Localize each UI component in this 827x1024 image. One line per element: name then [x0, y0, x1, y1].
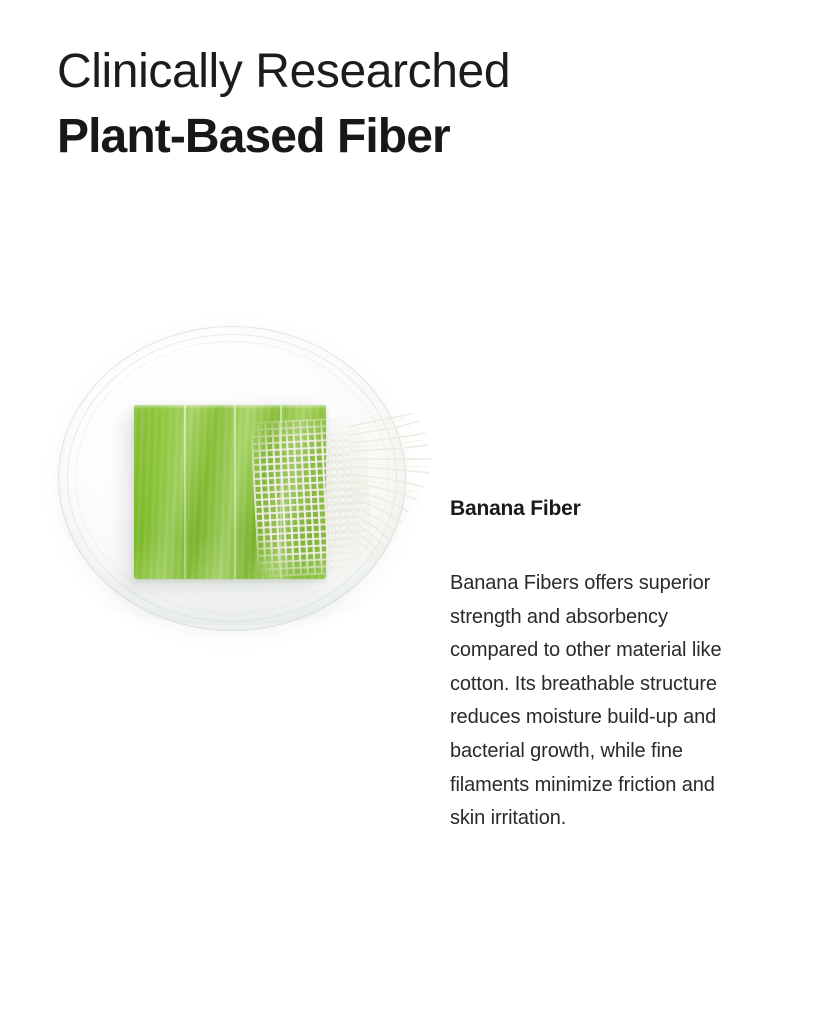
headline-eyebrow: Clinically Researched	[57, 44, 757, 101]
banana-fiber-mesh-swatch	[250, 416, 374, 578]
ingredient-description: Banana Fibers offers superior strength a…	[450, 567, 740, 836]
page-title: Plant-Based Fiber	[57, 109, 757, 166]
ingredient-copy-block: Banana Fiber Banana Fibers offers superi…	[450, 497, 740, 836]
product-ingredient-panel: Clinically Researched Plant-Based Fiber	[0, 0, 827, 1024]
petri-dish-figure	[58, 326, 408, 636]
leaf-vein	[234, 405, 236, 579]
leaf-edge-highlight	[134, 405, 326, 409]
mesh-fringe-threads	[346, 406, 446, 561]
headline-block: Clinically Researched Plant-Based Fiber	[57, 44, 757, 165]
ingredient-name: Banana Fiber	[450, 497, 740, 521]
leaf-vein	[184, 405, 186, 579]
fringe-threads-svg	[346, 406, 446, 561]
